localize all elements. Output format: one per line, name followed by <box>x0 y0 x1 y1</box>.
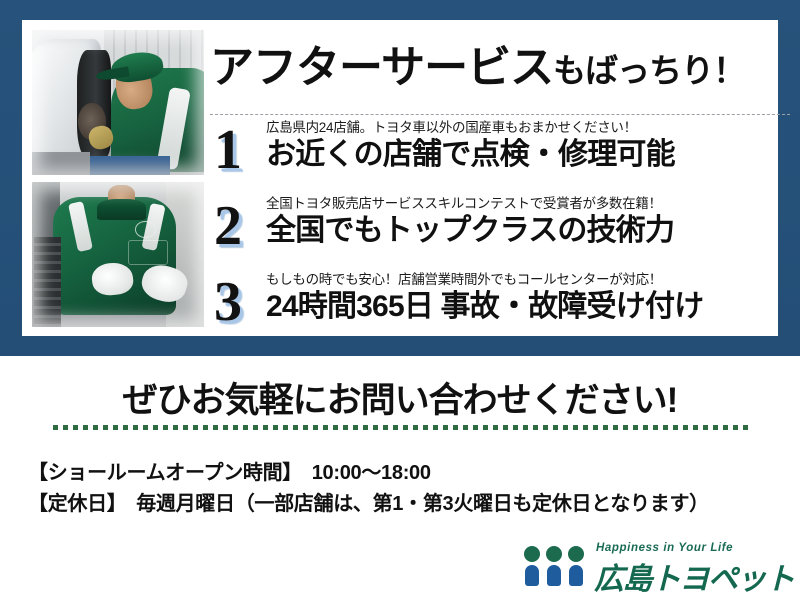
photo-technician-with-white-gloves <box>32 182 204 327</box>
item-headline-2: 全国でもトップクラスの技術力 <box>266 214 674 248</box>
item-number-3: 3 <box>214 274 264 330</box>
page-title: アフターサービスもばっちり！ <box>210 44 770 92</box>
call-to-action-dotted-divider <box>53 425 753 430</box>
page-title-main: アフターサービス <box>210 43 553 92</box>
three-people-icon <box>524 546 586 588</box>
list-item: 3 もしもの時でも安心！店舗営業時間外でもコールセンターが対応！ 24時間365… <box>214 272 794 348</box>
item-subtitle-3: もしもの時でも安心！店舗営業時間外でもコールセンターが対応！ <box>266 272 703 289</box>
photo-column <box>32 28 204 328</box>
item-number-1: 1 <box>214 122 264 178</box>
item-number-2: 2 <box>214 198 264 254</box>
closed-days-line: 【定休日】 毎週月曜日（一部店舗は、第1・第3火曜日も定休日となります） <box>28 489 778 520</box>
feature-list: 1 広島県内24店舗。トヨタ車以外の国産車もおまかせください！ お近くの店舗で点… <box>214 120 794 348</box>
showroom-hours-line: 【ショールームオープン時間】 10:00〜18:00 <box>28 458 778 489</box>
list-item: 1 広島県内24店舗。トヨタ車以外の国産車もおまかせください！ お近くの店舗で点… <box>214 120 794 196</box>
poster-root: アフターサービスもばっちり！ 1 広島県内24店舗。トヨタ車以外の国産車もおまか… <box>0 0 800 600</box>
photo-mechanic-inspecting-wheel <box>32 30 204 175</box>
white-content-panel: アフターサービスもばっちり！ 1 広島県内24店舗。トヨタ車以外の国産車もおまか… <box>22 20 778 336</box>
item-subtitle-2: 全国トヨタ販売店サービススキルコンテストで受賞者が多数在籍！ <box>266 196 674 213</box>
call-to-action-text: ぜひお気軽にお問い合わせください! <box>123 372 678 429</box>
logo-company-name: 広島トヨペット <box>594 554 794 598</box>
title-divider <box>210 114 790 115</box>
company-logo: Happiness in Your Life 広島トヨペット <box>524 542 784 594</box>
item-headline-1: お近くの店舗で点検・修理可能 <box>266 138 675 172</box>
business-hours-block: 【ショールームオープン時間】 10:00〜18:00 【定休日】 毎週月曜日（一… <box>28 458 778 520</box>
item-headline-3: 24時間365日 事故・故障受け付け <box>266 290 703 324</box>
item-subtitle-1: 広島県内24店舗。トヨタ車以外の国産車もおまかせください！ <box>266 120 675 137</box>
logo-tagline: Happiness in Your Life <box>596 542 733 554</box>
page-title-suffix: もばっちり！ <box>553 52 745 89</box>
list-item: 2 全国トヨタ販売店サービススキルコンテストで受賞者が多数在籍！ 全国でもトップ… <box>214 196 794 272</box>
call-to-action: ぜひお気軽にお問い合わせください! <box>0 372 800 429</box>
